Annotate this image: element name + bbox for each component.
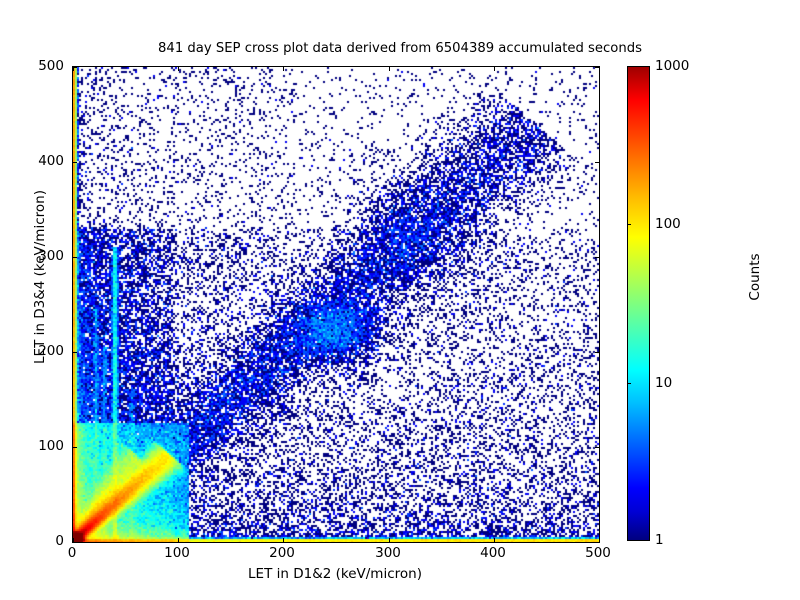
y-axis-tick-label: 500 [0, 58, 64, 74]
colorbar-tick [627, 224, 631, 225]
colorbar-tick-label: 100 [655, 216, 681, 232]
plot-title-line-1: 841 day SEP cross plot data derived from… [0, 40, 800, 57]
colorbar-tick [627, 66, 631, 67]
figure-canvas: 841 day SEP cross plot data derived from… [0, 0, 800, 600]
y-axis-tick [73, 542, 77, 543]
plot-axes [72, 66, 600, 543]
x-axis-tick [389, 67, 390, 71]
colorbar-tick [627, 383, 631, 384]
x-axis-tick [283, 67, 284, 71]
x-axis-tick-label: 0 [68, 545, 77, 561]
y-axis-tick [595, 162, 599, 163]
colorbar-tick-label: 1000 [655, 58, 689, 74]
x-axis-tick [494, 67, 495, 71]
x-axis-tick [283, 538, 284, 542]
x-axis-tick-label: 400 [480, 545, 506, 561]
x-axis-tick [389, 538, 390, 542]
y-axis-label: LET in D3&4 (keV/micron) [32, 147, 48, 407]
x-axis-tick [599, 538, 600, 542]
colorbar-label: Counts [747, 177, 763, 377]
y-axis-tick [73, 257, 77, 258]
colorbar-tick-label: 1 [655, 532, 664, 548]
colorbar-tick-label: 10 [655, 375, 672, 391]
x-axis-tick-label: 200 [269, 545, 295, 561]
colorbar [627, 66, 650, 541]
x-axis-tick-label: 100 [164, 545, 190, 561]
x-axis-tick-label: 500 [585, 545, 611, 561]
y-axis-tick [595, 542, 599, 543]
x-axis-tick [178, 538, 179, 542]
x-axis-tick [178, 67, 179, 71]
colorbar-tick [627, 540, 631, 541]
y-axis-tick-label: 0 [0, 533, 64, 549]
y-axis-tick [595, 67, 599, 68]
x-axis-tick-label: 300 [375, 545, 401, 561]
x-axis-tick [494, 538, 495, 542]
y-axis-tick [595, 257, 599, 258]
y-axis-tick [73, 352, 77, 353]
x-axis-tick [599, 67, 600, 71]
density-scatter-plot [73, 67, 599, 542]
x-axis-label: LET in D1&2 (keV/micron) [72, 566, 598, 582]
y-axis-tick [73, 67, 77, 68]
y-axis-tick [595, 447, 599, 448]
y-axis-tick-label: 100 [0, 438, 64, 454]
y-axis-tick [595, 352, 599, 353]
y-axis-tick [73, 447, 77, 448]
colorbar-gradient [627, 66, 650, 541]
y-axis-tick [73, 162, 77, 163]
